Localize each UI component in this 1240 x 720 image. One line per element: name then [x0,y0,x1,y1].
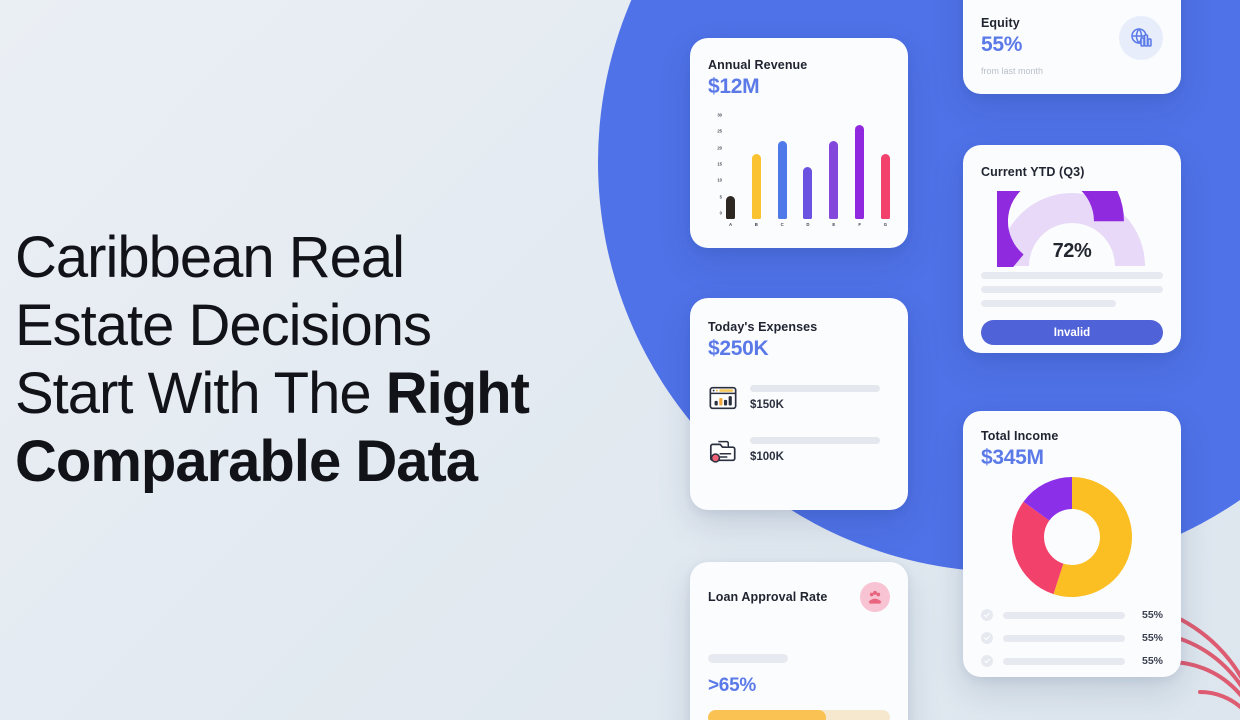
card-current-ytd[interactable]: Current YTD (Q3) 72% Invalid [963,145,1181,353]
donut-svg [1011,476,1133,598]
bar-chart-y-tick: 10 [717,178,722,183]
equity-content: Equity 55% from last month [981,16,1163,76]
bar-chart-column: B [752,115,761,227]
legend-bar [1003,612,1125,619]
check-icon [981,632,993,644]
legend-row[interactable]: 55% [981,655,1163,667]
bar-chart-column: A [726,115,735,227]
bar-chart-x-label: F [858,222,861,227]
annual-revenue-title: Annual Revenue [708,58,890,72]
loan-placeholder-bar [708,654,788,663]
equity-text-block: Equity 55% from last month [981,16,1043,76]
loan-header: Loan Approval Rate [708,582,890,612]
card-equity[interactable]: Equity 55% from last month [963,0,1181,94]
legend-percent: 55% [1135,655,1163,667]
bar-chart-column: C [778,115,787,227]
expense-row-content: $150K [750,385,890,411]
bar-chart-bar [803,167,812,219]
headline-line-4-bold: Comparable Data [15,429,477,494]
card-todays-expenses[interactable]: Today's Expenses $250K $150K [690,298,908,510]
headline-line-1: Caribbean Real [15,225,404,290]
loan-progress-fill [708,710,826,720]
expense-row-content: $100K [750,437,890,463]
bar-chart-column: F [855,115,864,227]
bar-chart-bar [829,141,838,219]
ytd-placeholder-line [981,286,1163,293]
headline-line-2: Estate Decisions [15,293,431,358]
headline-line-3-bold: Right [386,361,529,426]
legend-percent: 55% [1135,632,1163,644]
card-total-income[interactable]: Total Income $345M 55%55%55% [963,411,1181,677]
bar-chart-x-label: E [832,222,835,227]
bar-chart-column: E [829,115,838,227]
bar-chart-bar [881,154,890,219]
equity-title: Equity [981,16,1043,30]
expense-row[interactable]: $100K [708,435,890,465]
legend-row[interactable]: 55% [981,609,1163,621]
bar-chart-y-tick: 0 [720,211,722,216]
check-icon [981,609,993,621]
bar-chart-x-label: A [729,222,732,227]
ytd-gauge-chart: 72% [981,191,1163,265]
expense-progress-bar [750,437,880,444]
invalid-button[interactable]: Invalid [981,320,1163,345]
hero-stage: Caribbean Real Estate Decisions Start Wi… [0,0,1240,720]
ytd-gauge-value: 72% [981,240,1163,263]
expense-progress-bar [750,385,880,392]
expenses-title: Today's Expenses [708,320,890,334]
card-annual-revenue[interactable]: Annual Revenue $12M 051015202530 ABCDEFG [690,38,908,248]
bar-chart-x-label: G [884,222,887,227]
folder-document-icon [708,435,738,465]
total-income-value: $345M [981,446,1163,470]
total-income-legend: 55%55%55% [981,609,1163,667]
window-chart-icon [708,383,738,413]
headline-line-3-plain: Start With The [15,361,386,426]
donut-segment [1036,493,1072,511]
bar-chart-y-tick: 30 [717,113,722,118]
expense-amount: $150K [750,399,890,411]
bar-chart-bar [855,125,864,219]
check-icon [981,655,993,667]
equity-subtitle: from last month [981,66,1043,76]
expense-row[interactable]: $150K [708,383,890,413]
equity-value: 55% [981,33,1043,57]
bar-chart-y-tick: 5 [720,194,722,199]
loan-rate-value: >65% [708,675,890,697]
bar-chart-column: D [803,115,812,227]
bar-chart-bars: ABCDEFG [726,115,890,227]
ytd-title: Current YTD (Q3) [981,165,1163,179]
legend-bar [1003,658,1125,665]
bar-chart-y-axis: 051015202530 [708,115,724,213]
card-loan-approval-rate[interactable]: Loan Approval Rate >65% [690,562,908,720]
bar-chart-x-label: D [806,222,809,227]
bar-chart-y-tick: 25 [717,129,722,134]
ytd-placeholder-line [981,272,1163,279]
total-income-title: Total Income [981,429,1163,443]
bar-chart-bar [778,141,787,219]
page-title: Caribbean Real Estate Decisions Start Wi… [15,224,635,496]
legend-row[interactable]: 55% [981,632,1163,644]
expense-amount: $100K [750,451,890,463]
loan-progress-track [708,710,890,720]
ytd-placeholder-line [981,300,1116,307]
bar-chart-y-tick: 20 [717,145,722,150]
legend-bar [1003,635,1125,642]
annual-revenue-bar-chart: 051015202530 ABCDEFG [708,115,890,227]
expenses-value: $250K [708,337,890,361]
globe-bars-icon [1119,16,1163,60]
donut-segment [1028,511,1058,579]
bar-chart-x-label: C [781,222,784,227]
total-income-donut-chart [981,476,1163,598]
bar-chart-column: G [881,115,890,227]
loan-title: Loan Approval Rate [708,590,827,604]
legend-percent: 55% [1135,609,1163,621]
bar-chart-y-tick: 15 [717,162,722,167]
annual-revenue-value: $12M [708,75,890,99]
bar-chart-x-label: B [755,222,758,227]
team-badge-icon [860,582,890,612]
bar-chart-bar [752,154,761,219]
bar-chart-bar [726,196,735,219]
